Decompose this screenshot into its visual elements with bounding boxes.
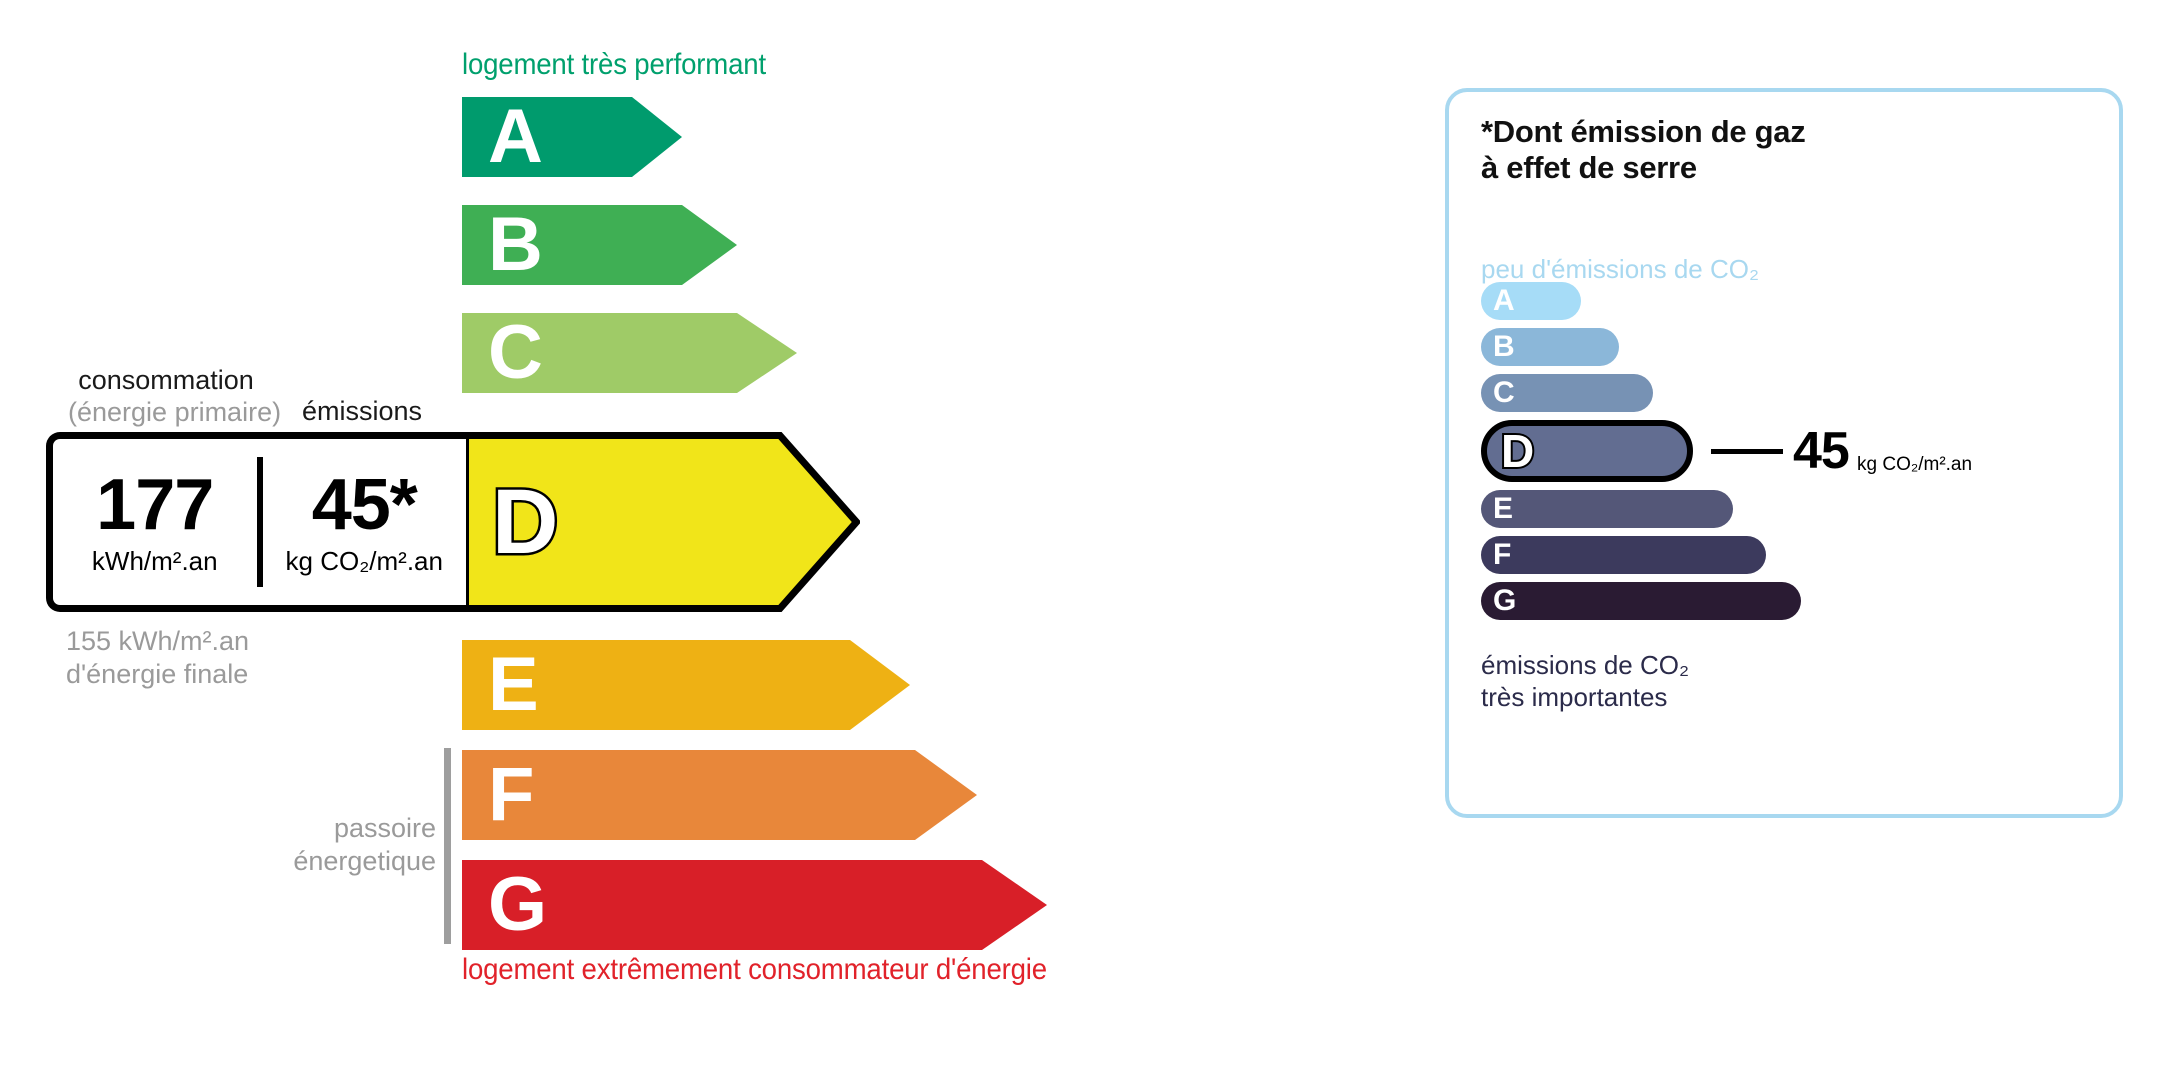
co2-class-letter-a: A — [1493, 286, 1515, 316]
passoire-line-2: énergetique — [236, 845, 436, 878]
co2-class-bar-f: F — [1481, 536, 1766, 574]
emissions-label: émissions — [302, 396, 422, 428]
co2-top-caption: peu d'émissions de CO₂ — [1481, 254, 1759, 285]
co2-panel-title: *Dont émission de gaz à effet de serre — [1481, 114, 1805, 186]
co2-bottom-line-1: émissions de CO₂ — [1481, 650, 1689, 682]
consumption-label-line-1: consommation — [68, 365, 264, 397]
energy-class-letter-d: D — [492, 476, 558, 568]
emission-unit: kg CO₂/m².an — [263, 547, 467, 576]
co2-title-line-2: à effet de serre — [1481, 150, 1805, 186]
final-energy-line-1: 155 kWh/m².an — [66, 625, 249, 658]
co2-class-bar-e: E — [1481, 490, 1733, 528]
energy-class-bar-e: E — [462, 640, 910, 730]
co2-bottom-caption: émissions de CO₂ très importantes — [1481, 650, 1689, 713]
energy-class-arrow-shape-f — [462, 750, 977, 840]
final-energy-line-2: d'énergie finale — [66, 658, 249, 691]
energy-class-arrow-shape-g — [462, 860, 1047, 950]
co2-callout-leader-line — [1711, 449, 1783, 454]
energy-class-letter-c: C — [488, 315, 543, 391]
co2-class-letter-e: E — [1493, 494, 1513, 524]
consumption-label-line-2: (énergie primaire) — [68, 397, 264, 429]
co2-bottom-line-2: très importantes — [1481, 682, 1689, 714]
co2-class-bar-b: B — [1481, 328, 1619, 366]
primary-energy-cell: 177 kWh/m².an — [53, 469, 257, 576]
energy-class-bar-b: B — [462, 205, 737, 285]
co2-class-letter-b: B — [1493, 332, 1515, 362]
energy-class-letter-b: B — [488, 207, 543, 283]
co2-class-letter-g: G — [1493, 586, 1516, 616]
energy-top-caption: logement très performant — [462, 48, 766, 82]
co2-callout-value: 45 — [1793, 425, 1849, 477]
energy-class-bar-c: C — [462, 313, 797, 393]
co2-class-bar-d: D — [1481, 420, 1693, 482]
co2-panel: *Dont émission de gaz à effet de serre p… — [1445, 88, 2123, 818]
emission-value: 45* — [263, 469, 467, 541]
primary-energy-value: 177 — [53, 469, 257, 541]
energy-class-letter-a: A — [488, 99, 543, 175]
co2-callout-unit: kg CO₂/m².an — [1857, 455, 1972, 474]
co2-class-letter-c: C — [1493, 378, 1515, 408]
primary-energy-unit: kWh/m².an — [53, 547, 257, 576]
passoire-energetique-label: passoire énergetique — [236, 812, 436, 878]
energy-bottom-caption: logement extrêmement consommateur d'éner… — [462, 953, 1047, 987]
co2-title-line-1: *Dont émission de gaz — [1481, 114, 1805, 150]
emission-cell: 45* kg CO₂/m².an — [263, 469, 467, 576]
co2-class-bar-g: G — [1481, 582, 1801, 620]
energy-scale-panel: logement très performant ABCDEFG passoir… — [0, 0, 1400, 1079]
passoire-line-1: passoire — [236, 812, 436, 845]
co2-class-bar-c: C — [1481, 374, 1653, 412]
energy-class-bar-a: A — [462, 97, 682, 177]
passoire-energetique-bar — [444, 748, 451, 944]
consumption-label: consommation (énergie primaire) — [68, 365, 264, 429]
value-box: 177 kWh/m².an 45* kg CO₂/m².an — [46, 432, 466, 612]
energy-class-letter-e: E — [488, 647, 539, 723]
energy-class-bar-g: G — [462, 860, 1047, 950]
energy-class-bar-f: F — [462, 750, 977, 840]
co2-class-letter-d: D — [1501, 428, 1534, 474]
co2-class-bar-a: A — [1481, 282, 1581, 320]
energy-class-letter-g: G — [488, 867, 547, 943]
final-energy-note: 155 kWh/m².an d'énergie finale — [66, 625, 249, 691]
energy-class-letter-f: F — [488, 757, 534, 833]
energy-class-bar-d: D — [462, 432, 860, 612]
co2-class-letter-f: F — [1493, 540, 1511, 570]
